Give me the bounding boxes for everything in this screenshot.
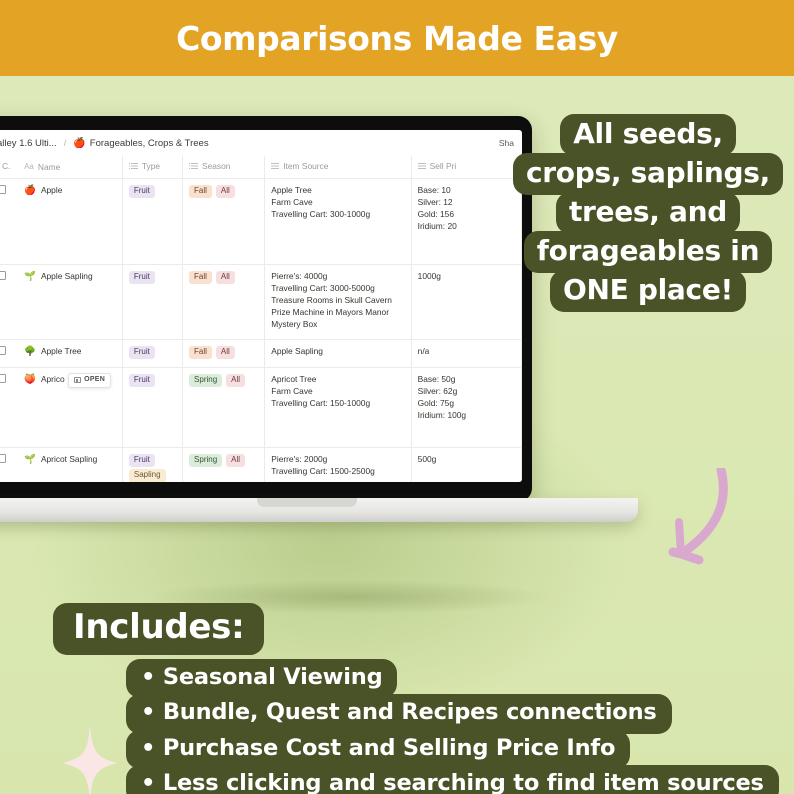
multi-select-icon (129, 163, 138, 170)
row-checkbox-cell[interactable] (0, 447, 18, 482)
row-checkbox-cell[interactable] (0, 179, 18, 265)
checkbox-icon[interactable] (0, 271, 6, 280)
type-tag: Fruit (129, 454, 155, 467)
laptop-mockup: v Valley 1.6 Ulti... / 🍎 Forageables, Cr… (0, 116, 532, 546)
row-checkbox-cell[interactable] (0, 265, 18, 340)
column-label: Name (38, 162, 60, 172)
column-header-name[interactable]: Aa Name (18, 156, 122, 179)
row-sell-price-cell[interactable]: n/a (411, 339, 521, 367)
column-label: Season (202, 161, 230, 171)
season-tag: All (226, 374, 245, 387)
row-checkbox-cell[interactable]: ▶ (0, 367, 18, 447)
season-tag: Fall (189, 346, 212, 359)
row-item-source-cell[interactable]: Pierre's: 4000g Travelling Cart: 3000-50… (265, 265, 411, 340)
column-header-season[interactable]: Season (183, 156, 265, 179)
checkbox-icon[interactable] (0, 185, 6, 194)
season-tag: Fall (189, 185, 212, 198)
row-type-cell[interactable]: Fruit (122, 265, 182, 340)
season-tag: All (216, 185, 235, 198)
row-item-source-cell[interactable]: Apricot Tree Farm Cave Travelling Cart: … (265, 367, 411, 447)
item-emoji-icon: 🌳 (24, 347, 36, 357)
item-name: Apple Tree (41, 346, 82, 358)
open-page-button[interactable]: OPEN (68, 373, 111, 388)
table-row[interactable]: 🍎 Apple Fruit FallAll Apple Tree Farm Ca… (0, 179, 522, 265)
type-tag: Sapling (129, 469, 166, 482)
column-label: Sell Pri (430, 161, 457, 171)
aa-text-icon: Aa (24, 163, 34, 171)
season-tag: Fall (189, 271, 212, 284)
row-name-cell[interactable]: 🍎 Apple (18, 179, 122, 265)
column-header-checkbox[interactable]: C. (0, 156, 18, 179)
row-item-source-cell[interactable]: Apple Sapling (265, 339, 411, 367)
row-item-source-cell[interactable]: Apple Tree Farm Cave Travelling Cart: 30… (265, 179, 411, 265)
list-item: • Purchase Cost and Selling Price Info (126, 730, 630, 769)
breadcrumb-page-title[interactable]: Forageables, Crops & Trees (90, 138, 209, 149)
row-season-cell[interactable]: FallAll (183, 265, 265, 340)
row-name-cell[interactable]: 🌳 Apple Tree (18, 339, 122, 367)
row-item-source-cell[interactable]: Pierre's: 2000g Travelling Cart: 1500-25… (265, 447, 411, 482)
callout-line: forageables in (524, 231, 772, 273)
breadcrumb-separator: / (64, 138, 67, 149)
item-name: Aprico (41, 374, 65, 386)
column-label: C. (2, 161, 10, 171)
season-tag: Spring (189, 454, 222, 467)
callout-line: trees, and (556, 192, 740, 234)
callout-line: All seeds, (560, 114, 736, 156)
checkbox-icon[interactable] (0, 374, 6, 383)
breadcrumb-workspace[interactable]: v Valley 1.6 Ulti... (0, 138, 57, 149)
callout-sticker: All seeds, crops, saplings, trees, and f… (498, 114, 794, 309)
item-name: Apricot Sapling (41, 454, 97, 466)
open-button-label: OPEN (84, 375, 105, 385)
open-page-icon (74, 377, 81, 383)
type-tag: Fruit (129, 271, 155, 284)
text-lines-icon (418, 163, 426, 170)
laptop-trackpad-notch (257, 498, 357, 507)
includes-heading: Includes: (53, 603, 264, 655)
column-header-type[interactable]: Type (122, 156, 182, 179)
checkbox-icon[interactable] (0, 454, 6, 463)
season-tag: All (216, 346, 235, 359)
content-stage: v Valley 1.6 Ulti... / 🍎 Forageables, Cr… (0, 76, 794, 794)
callout-line: crops, saplings, (513, 153, 783, 195)
callout-line: ONE place! (550, 270, 746, 312)
row-season-cell[interactable]: SpringAll (183, 447, 265, 482)
page-emoji-icon: 🍎 (73, 138, 85, 149)
table-row[interactable]: 🌱 Apricot Sapling Fruit Sapling Spring (0, 447, 522, 482)
row-type-cell[interactable]: Fruit (122, 179, 182, 265)
curved-arrow-icon (655, 468, 735, 583)
column-label: Item Source (283, 161, 328, 171)
laptop-screen: v Valley 1.6 Ulti... / 🍎 Forageables, Cr… (0, 130, 522, 482)
item-emoji-icon: 🍑 (24, 375, 36, 385)
column-header-item-source[interactable]: Item Source (265, 156, 411, 179)
item-name: Apple Sapling (41, 271, 93, 283)
type-tag: Fruit (129, 374, 155, 387)
row-type-cell[interactable]: Fruit Sapling (122, 447, 182, 482)
list-item: • Seasonal Viewing (126, 659, 397, 698)
type-tag: Fruit (129, 346, 155, 359)
item-name: Apple (41, 185, 62, 197)
top-banner: Comparisons Made Easy (0, 0, 794, 76)
season-tag: All (216, 271, 235, 284)
row-sell-price-cell[interactable]: Base: 50g Silver: 62g Gold: 75g Iridium:… (411, 367, 521, 447)
page-title: Comparisons Made Easy (176, 19, 618, 58)
database-table: C. Aa Name (0, 156, 522, 482)
laptop-lid: v Valley 1.6 Ulti... / 🍎 Forageables, Cr… (0, 116, 532, 502)
row-checkbox-cell[interactable] (0, 339, 18, 367)
row-season-cell[interactable]: FallAll (183, 179, 265, 265)
row-name-cell[interactable]: 🌱 Apricot Sapling (18, 447, 122, 482)
row-type-cell[interactable]: Fruit (122, 367, 182, 447)
includes-list: • Seasonal Viewing • Bundle, Quest and R… (126, 659, 779, 794)
checkbox-icon[interactable] (0, 346, 6, 355)
table-row[interactable]: 🌳 Apple Tree Fruit FallAll Apple Sapling… (0, 339, 522, 367)
multi-select-icon (189, 163, 198, 170)
notion-topbar: v Valley 1.6 Ulti... / 🍎 Forageables, Cr… (0, 130, 522, 156)
list-item: • Less clicking and searching to find it… (126, 765, 779, 794)
breadcrumb: v Valley 1.6 Ulti... / 🍎 Forageables, Cr… (0, 138, 209, 149)
item-emoji-icon: 🍎 (24, 186, 36, 196)
row-sell-price-cell[interactable]: 500g (411, 447, 521, 482)
table-body: 🍎 Apple Fruit FallAll Apple Tree Farm Ca… (0, 179, 522, 483)
sparkle-icon (62, 724, 118, 794)
type-tag: Fruit (129, 185, 155, 198)
row-name-cell[interactable]: 🍑 Aprico OPEN (18, 367, 122, 447)
season-tag: Spring (189, 374, 222, 387)
table-row[interactable]: ▶ 🍑 Aprico OPEN (0, 367, 522, 447)
item-emoji-icon: 🌱 (24, 455, 36, 465)
column-label: Type (142, 161, 160, 171)
row-season-cell[interactable]: FallAll (183, 339, 265, 367)
item-emoji-icon: 🌱 (24, 272, 36, 282)
row-type-cell[interactable]: Fruit (122, 339, 182, 367)
notion-app: v Valley 1.6 Ulti... / 🍎 Forageables, Cr… (0, 130, 522, 482)
list-item: • Bundle, Quest and Recipes connections (126, 694, 672, 733)
row-season-cell[interactable]: SpringAll (183, 367, 265, 447)
season-tag: All (226, 454, 245, 467)
includes-heading-label: Includes: (53, 603, 264, 655)
table-header-row: C. Aa Name (0, 156, 522, 179)
table-row[interactable]: 🌱 Apple Sapling Fruit FallAll Pierre's: … (0, 265, 522, 340)
row-name-cell[interactable]: 🌱 Apple Sapling (18, 265, 122, 340)
text-lines-icon (271, 163, 279, 170)
